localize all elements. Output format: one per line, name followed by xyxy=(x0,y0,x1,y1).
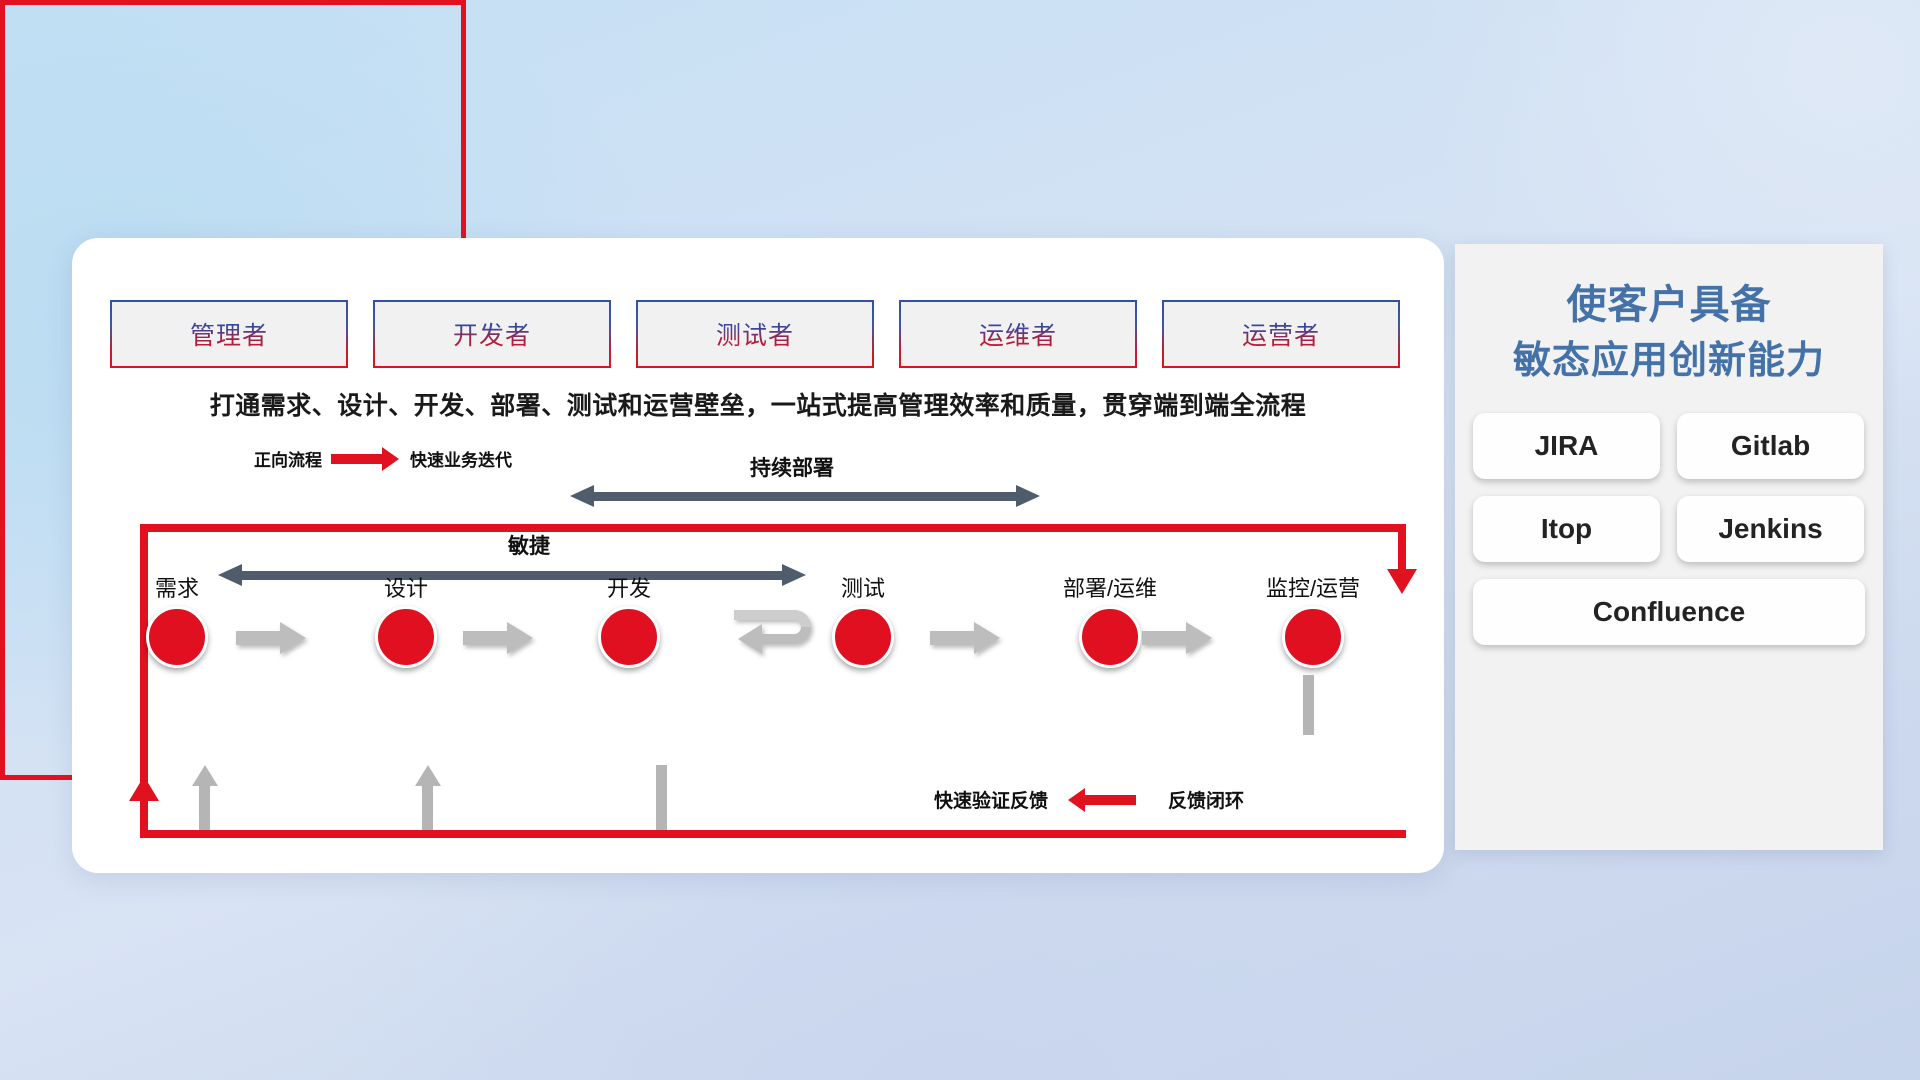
tool-chip-grid: JIRA Gitlab Itop Jenkins Confluence xyxy=(1473,413,1865,645)
arrow-right-red-icon xyxy=(331,454,383,464)
span-label-continuous-deploy: 持续部署 xyxy=(750,452,834,482)
devops-flow-card: 管理者 开发者 测试者 运维者 运营者 打通需求、设计、开发、部署、测试和运营壁… xyxy=(72,238,1444,873)
slide-canvas: 管理者 开发者 测试者 运维者 运营者 打通需求、设计、开发、部署、测试和运营壁… xyxy=(0,0,1920,1080)
pipeline-node-design[interactable]: 设计 xyxy=(346,578,466,668)
node-label: 部署/运维 xyxy=(1015,578,1205,600)
role-box-ops[interactable]: 运维者 xyxy=(899,300,1137,368)
legend-feedback-right-label: 反馈闭环 xyxy=(1168,786,1244,813)
tool-chip-confluence[interactable]: Confluence xyxy=(1473,579,1865,645)
role-label: 测试者 xyxy=(716,316,794,352)
role-box-row: 管理者 开发者 测试者 运维者 运营者 xyxy=(110,300,1400,368)
legend-forward-right-label: 快速业务迭代 xyxy=(410,446,512,471)
pipeline-node-develop[interactable]: 开发 xyxy=(569,578,689,668)
role-label: 运营者 xyxy=(1242,316,1320,352)
role-box-tester[interactable]: 测试者 xyxy=(636,300,874,368)
tool-chip-gitlab[interactable]: Gitlab xyxy=(1677,413,1864,479)
feedback-stem-test xyxy=(656,765,667,830)
role-box-manager[interactable]: 管理者 xyxy=(110,300,348,368)
arrow-head-left-icon xyxy=(570,485,594,507)
tool-chip-jenkins[interactable]: Jenkins xyxy=(1677,496,1864,562)
span-arrow-continuous-deploy xyxy=(570,489,1040,503)
feedback-stem-head-design xyxy=(192,765,218,786)
feedback-stem-design xyxy=(199,783,210,830)
role-label: 管理者 xyxy=(190,316,268,352)
iteration-loop-icon xyxy=(732,598,842,664)
legend-forward-flow: 正向流程 快速业务迭代 xyxy=(254,446,512,471)
legend-feedback-loop: 快速验证反馈 反馈闭环 xyxy=(934,786,1244,813)
flow-arrow-right-icon xyxy=(463,621,535,655)
red-loop-top-segment xyxy=(140,524,1406,532)
value-proposition-panel: 使客户具备 敏态应用创新能力 JIRA Gitlab Itop Jenkins … xyxy=(1455,244,1883,850)
flow-arrow-right-icon xyxy=(1142,621,1214,655)
panel-title-line1: 使客户具备 xyxy=(1455,276,1883,334)
span-label-agile: 敏捷 xyxy=(508,530,550,560)
node-dot-icon xyxy=(1282,606,1344,668)
legend-feedback-left-label: 快速验证反馈 xyxy=(934,786,1048,813)
tool-chip-jira[interactable]: JIRA xyxy=(1473,413,1660,479)
node-dot-icon xyxy=(146,606,208,668)
flow-arrow-right-icon xyxy=(930,621,1002,655)
node-dot-icon xyxy=(375,606,437,668)
feedback-stem-monitor xyxy=(1303,675,1314,735)
role-label: 开发者 xyxy=(453,316,531,352)
role-box-developer[interactable]: 开发者 xyxy=(373,300,611,368)
red-loop-bottom-segment xyxy=(140,830,1406,838)
node-label: 开发 xyxy=(569,578,689,600)
node-label: 测试 xyxy=(803,578,923,600)
legend-forward-left-label: 正向流程 xyxy=(254,446,322,471)
node-label: 设计 xyxy=(346,578,466,600)
node-label: 监控/运营 xyxy=(1218,578,1408,600)
feedback-stem-develop xyxy=(422,783,433,830)
red-loop-arrow-up-icon xyxy=(129,776,159,801)
feedback-stem-head-develop xyxy=(415,765,441,786)
tool-chip-itop[interactable]: Itop xyxy=(1473,496,1660,562)
arrow-left-red-icon xyxy=(1084,795,1136,805)
arrow-head-right-icon xyxy=(1016,485,1040,507)
flow-arrow-right-icon xyxy=(236,621,308,655)
node-label: 需求 xyxy=(117,578,237,600)
role-box-operations[interactable]: 运营者 xyxy=(1162,300,1400,368)
arrow-bar xyxy=(592,492,1018,501)
role-label: 运维者 xyxy=(979,316,1057,352)
headline-text: 打通需求、设计、开发、部署、测试和运营壁垒，一站式提高管理效率和质量，贯穿端到端… xyxy=(72,386,1444,422)
pipeline-node-monitor-operate[interactable]: 监控/运营 xyxy=(1218,578,1408,668)
pipeline-node-requirements[interactable]: 需求 xyxy=(117,578,237,668)
node-dot-icon xyxy=(1079,606,1141,668)
panel-title-line2: 敏态应用创新能力 xyxy=(1455,334,1883,389)
node-dot-icon xyxy=(598,606,660,668)
